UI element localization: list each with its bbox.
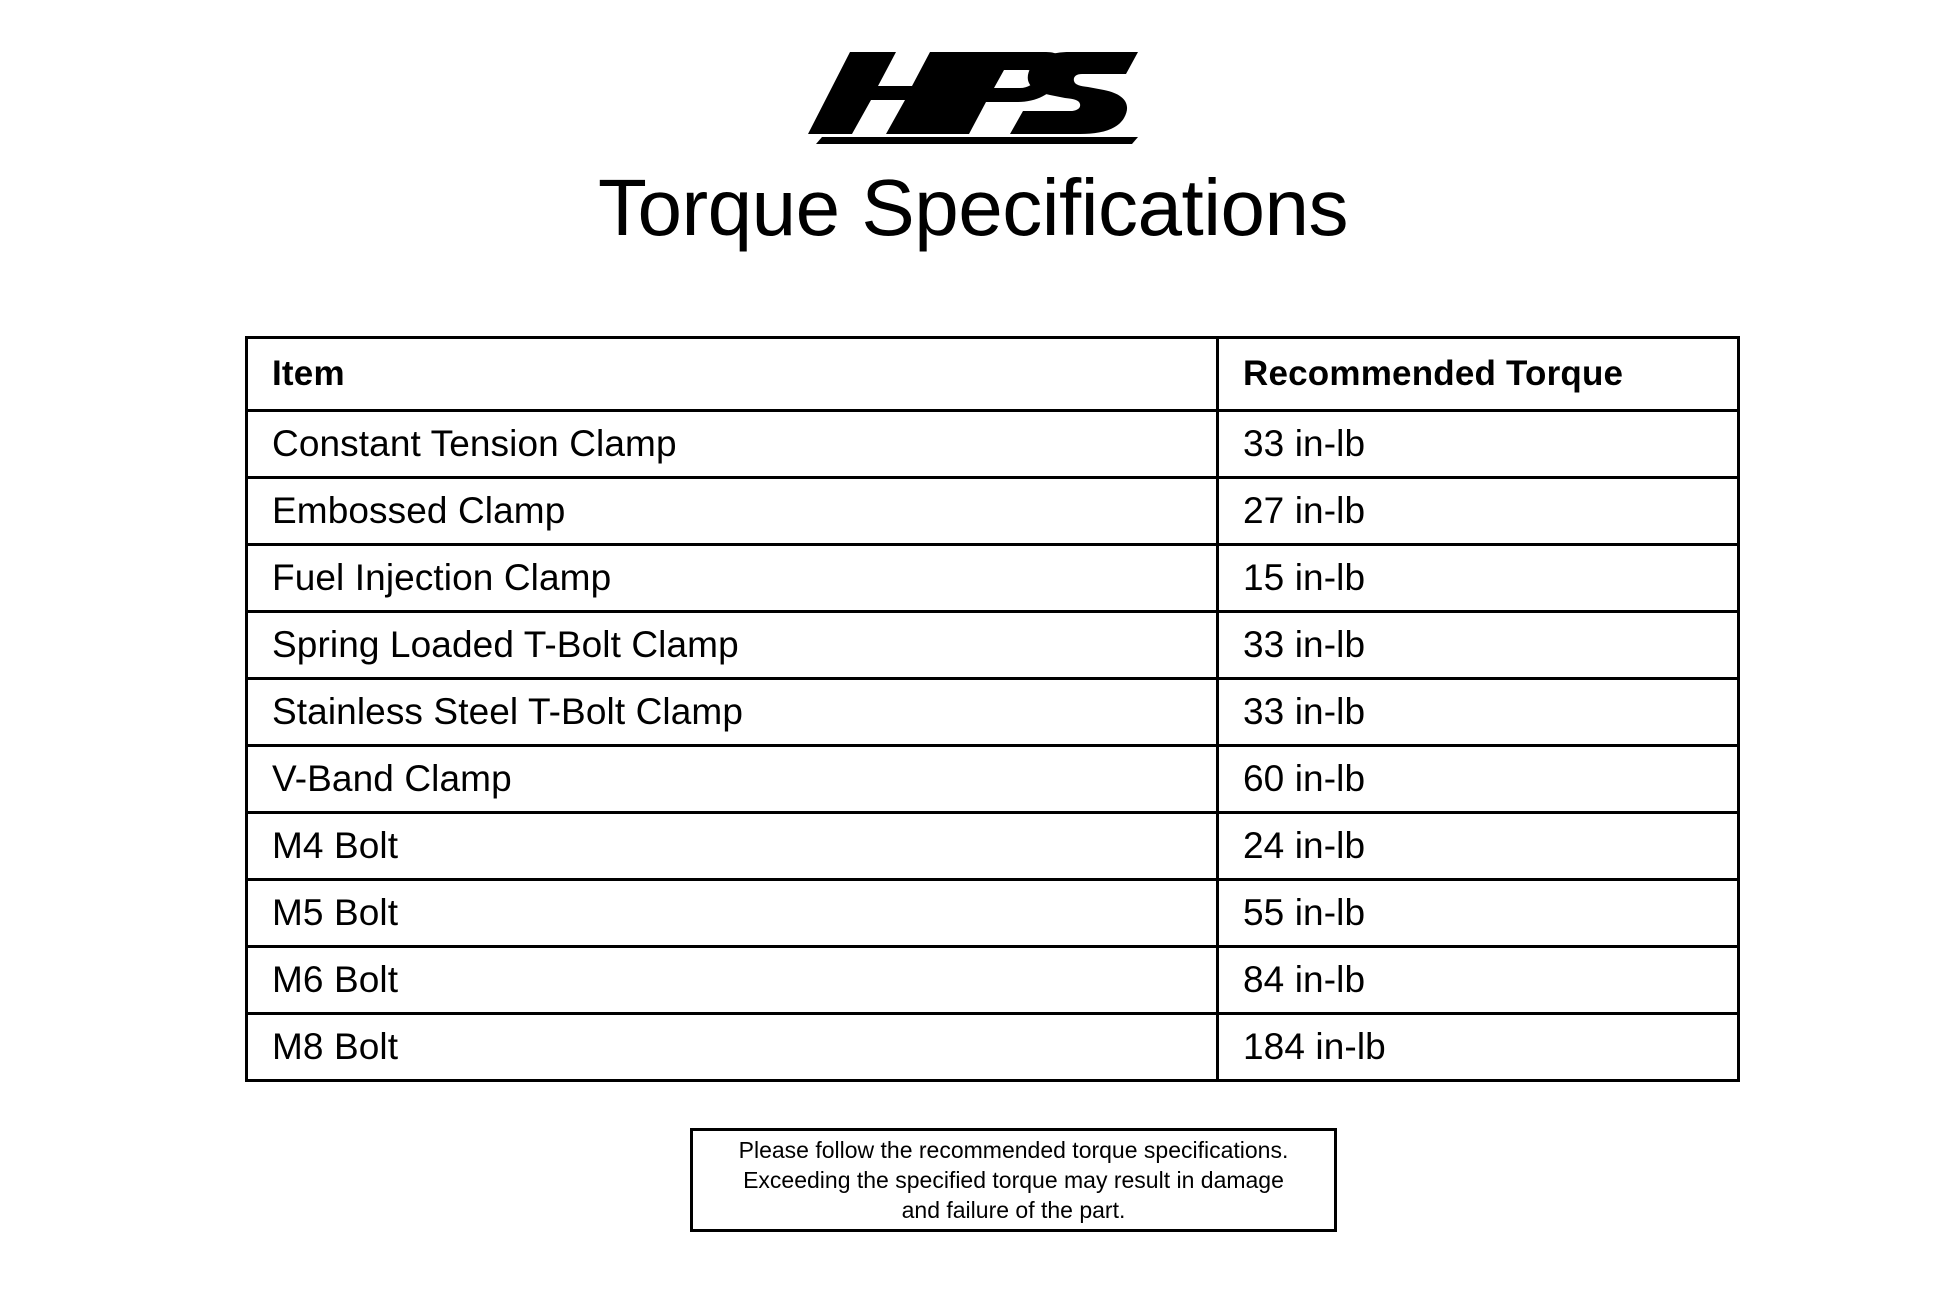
cell-item: M6 Bolt xyxy=(247,947,1218,1014)
cell-item: Spring Loaded T-Bolt Clamp xyxy=(247,612,1218,679)
column-header-recommended-torque: Recommended Torque xyxy=(1218,338,1739,411)
table-row: M8 Bolt 184 in-lb xyxy=(247,1014,1739,1081)
table-row: Spring Loaded T-Bolt Clamp 33 in-lb xyxy=(247,612,1739,679)
footer-warning-note: Please follow the recommended torque spe… xyxy=(690,1128,1337,1232)
torque-specifications-table-wrap: Item Recommended Torque Constant Tension… xyxy=(245,336,1737,1082)
cell-item: Embossed Clamp xyxy=(247,478,1218,545)
table-row: M4 Bolt 24 in-lb xyxy=(247,813,1739,880)
cell-item: V-Band Clamp xyxy=(247,746,1218,813)
cell-item: Fuel Injection Clamp xyxy=(247,545,1218,612)
table-row: Fuel Injection Clamp 15 in-lb xyxy=(247,545,1739,612)
cell-torque: 60 in-lb xyxy=(1218,746,1739,813)
cell-torque: 27 in-lb xyxy=(1218,478,1739,545)
cell-item: M4 Bolt xyxy=(247,813,1218,880)
cell-item: Stainless Steel T-Bolt Clamp xyxy=(247,679,1218,746)
table-header: Item Recommended Torque xyxy=(247,338,1739,411)
table-row: Constant Tension Clamp 33 in-lb xyxy=(247,411,1739,478)
hps-wordmark-logo xyxy=(808,34,1138,144)
note-line: and failure of the part. xyxy=(902,1195,1126,1225)
cell-item: M8 Bolt xyxy=(247,1014,1218,1081)
cell-torque: 33 in-lb xyxy=(1218,679,1739,746)
table-row: M6 Bolt 84 in-lb xyxy=(247,947,1739,1014)
table-row: M5 Bolt 55 in-lb xyxy=(247,880,1739,947)
table-row: V-Band Clamp 60 in-lb xyxy=(247,746,1739,813)
cell-torque: 184 in-lb xyxy=(1218,1014,1739,1081)
cell-torque: 33 in-lb xyxy=(1218,411,1739,478)
note-line: Please follow the recommended torque spe… xyxy=(739,1135,1289,1165)
column-header-item: Item xyxy=(247,338,1218,411)
cell-item: M5 Bolt xyxy=(247,880,1218,947)
page-title: Torque Specifications xyxy=(0,168,1946,248)
note-line: Exceeding the specified torque may resul… xyxy=(743,1165,1284,1195)
hps-logo-wrap xyxy=(808,34,1138,144)
cell-torque: 33 in-lb xyxy=(1218,612,1739,679)
cell-torque: 55 in-lb xyxy=(1218,880,1739,947)
torque-specifications-table: Item Recommended Torque Constant Tension… xyxy=(245,336,1740,1082)
cell-torque: 24 in-lb xyxy=(1218,813,1739,880)
cell-torque: 15 in-lb xyxy=(1218,545,1739,612)
table-row: Embossed Clamp 27 in-lb xyxy=(247,478,1739,545)
table-body: Constant Tension Clamp 33 in-lb Embossed… xyxy=(247,411,1739,1081)
cell-torque: 84 in-lb xyxy=(1218,947,1739,1014)
table-row: Stainless Steel T-Bolt Clamp 33 in-lb xyxy=(247,679,1739,746)
brand-logo xyxy=(0,34,1946,144)
table-header-row: Item Recommended Torque xyxy=(247,338,1739,411)
cell-item: Constant Tension Clamp xyxy=(247,411,1218,478)
